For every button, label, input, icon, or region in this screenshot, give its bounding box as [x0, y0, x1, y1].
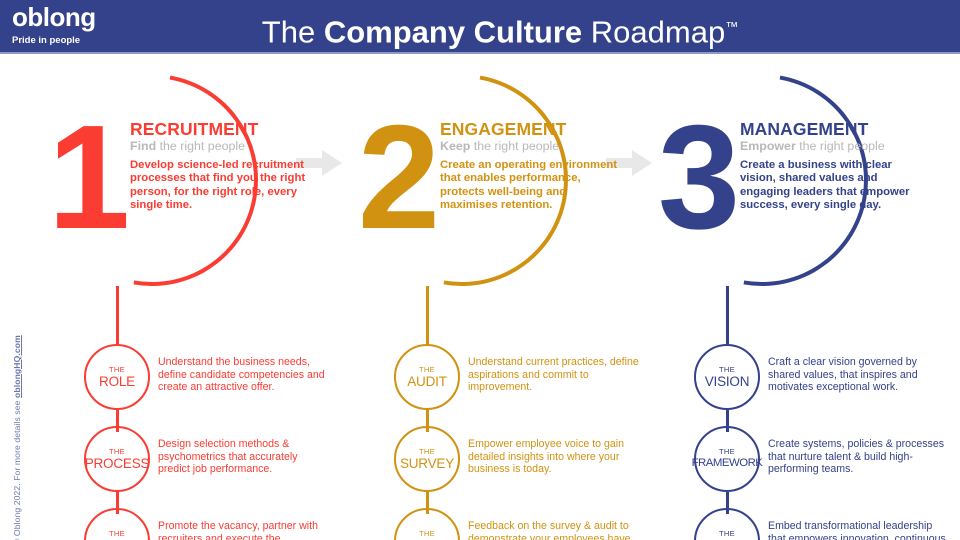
sub-desc-framework: Create systems, policies & processes tha… — [768, 438, 950, 476]
stage-subtitle-2-bold: Keep — [440, 139, 470, 153]
sub-label-the: THE — [719, 365, 735, 374]
sub-circle-vision[interactable]: THE VISION — [694, 344, 760, 410]
sub-item-response[interactable]: THE RESPONSE Feedback on the survey & au… — [332, 508, 632, 540]
page-title-bold: Company Culture — [324, 14, 582, 49]
sub-label-name: FRAMEWORK — [692, 456, 763, 471]
page-title-pre: The — [262, 14, 324, 49]
sub-circle-audit[interactable]: THE AUDIT — [394, 344, 460, 410]
stage-number-1: 1 — [34, 104, 144, 252]
connector-line-3 — [726, 286, 729, 344]
stage-column-3: 3 MANAGEMENT Empower the right people Cr… — [632, 54, 952, 540]
page-title-post: Roadmap — [582, 14, 725, 49]
sub-label-the: THE — [419, 529, 435, 538]
connector-line-2 — [426, 286, 429, 344]
sub-label-name: VISION — [705, 374, 750, 389]
infographic-page: oblong Pride in people The Company Cultu… — [0, 0, 960, 540]
oblonghq-link[interactable]: oblongHQ.com — [12, 335, 22, 398]
page-title: The Company Culture Roadmap™ — [180, 6, 820, 48]
sub-circle-response[interactable]: THE RESPONSE — [394, 508, 460, 540]
header-bar: oblong Pride in people The Company Cultu… — [0, 0, 960, 54]
stage-title-2: ENGAGEMENT — [440, 120, 620, 139]
sub-label-the: THE — [419, 447, 435, 456]
sub-item-vision[interactable]: THE VISION Craft a clear vision governed… — [632, 344, 952, 426]
stage-number-2: 2 — [344, 104, 454, 252]
sub-label-the: THE — [109, 365, 125, 374]
sub-desc-search: Promote the vacancy, partner with recrui… — [158, 520, 330, 540]
sub-label-the: THE — [109, 447, 125, 456]
sub-label-name: AUDIT — [407, 374, 447, 389]
sub-label-the: THE — [719, 529, 735, 538]
sub-label-name: SURVEY — [400, 456, 454, 471]
stage-subtitle-3-rest: the right people — [796, 139, 885, 153]
sub-label-name: ROLE — [99, 374, 135, 389]
stage-subtitle-2: Keep the right people — [440, 139, 620, 154]
stage-subtitle-1: Find the right people — [130, 139, 310, 154]
logo-wordmark: oblong — [8, 4, 176, 30]
stage-title-3: MANAGEMENT — [740, 120, 920, 139]
sub-desc-response: Feedback on the survey & audit to demons… — [468, 520, 640, 540]
connector-line-1 — [116, 286, 119, 344]
sub-item-audit[interactable]: THE AUDIT Understand current practices, … — [332, 344, 632, 426]
stage-subtitle-3-bold: Empower — [740, 139, 796, 153]
sub-circle-search[interactable]: THE SEARCH — [84, 508, 150, 540]
stage-column-1: 1 RECRUITMENT Find the right people Deve… — [22, 54, 322, 540]
sub-circle-leaders[interactable]: THE LEADERS — [694, 508, 760, 540]
sub-circle-survey[interactable]: THE SURVEY — [394, 426, 460, 492]
stage-subtitle-3: Empower the right people — [740, 139, 920, 154]
sub-item-process[interactable]: THE PROCESS Design selection methods & p… — [22, 426, 322, 508]
sub-item-role[interactable]: THE ROLE Understand the business needs, … — [22, 344, 322, 426]
sub-label-the: THE — [109, 529, 125, 538]
copyright-notice: © Oblong 2022. For more details see oblo… — [12, 255, 22, 540]
stage-heading-1: RECRUITMENT Find the right people Develo… — [130, 120, 310, 213]
sub-item-search[interactable]: THE SEARCH Promote the vacancy, partner … — [22, 508, 322, 540]
copyright-text: © Oblong 2022. For more details see — [12, 398, 22, 540]
sub-item-leaders[interactable]: THE LEADERS Embed transformational leade… — [632, 508, 952, 540]
stage-subtitle-2-rest: the right people — [470, 139, 559, 153]
stage-column-2: 2 ENGAGEMENT Keep the right people Creat… — [332, 54, 632, 540]
sub-item-survey[interactable]: THE SURVEY Empower employee voice to gai… — [332, 426, 632, 508]
sub-desc-vision: Craft a clear vision governed by shared … — [768, 356, 950, 394]
sub-circle-process[interactable]: THE PROCESS — [84, 426, 150, 492]
stage-heading-2: ENGAGEMENT Keep the right people Create … — [440, 120, 620, 213]
stage-heading-3: MANAGEMENT Empower the right people Crea… — [740, 120, 920, 213]
sub-desc-survey: Empower employee voice to gain detailed … — [468, 438, 640, 476]
sub-item-framework[interactable]: THE FRAMEWORK Create systems, policies &… — [632, 426, 952, 508]
sub-label-the: THE — [419, 365, 435, 374]
sub-desc-role: Understand the business needs, define ca… — [158, 356, 330, 394]
sub-desc-leaders: Embed transformational leadership that e… — [768, 520, 950, 540]
stage-body-3: Create a business with clear vision, sha… — [740, 159, 920, 213]
stage-body-1: Develop science-led recruitment processe… — [130, 159, 310, 213]
trademark-symbol: ™ — [725, 19, 738, 34]
stage-subtitle-1-rest: the right people — [156, 139, 245, 153]
oblong-logo[interactable]: oblong Pride in people — [8, 4, 176, 50]
stage-body-2: Create an operating environment that ena… — [440, 159, 620, 213]
logo-tagline: Pride in people — [12, 35, 80, 46]
sub-label-the: THE — [719, 447, 735, 456]
sub-circle-framework[interactable]: THE FRAMEWORK — [694, 426, 760, 492]
sub-desc-audit: Understand current practices, define asp… — [468, 356, 640, 394]
sub-desc-process: Design selection methods & psychometrics… — [158, 438, 330, 476]
sub-label-name: PROCESS — [85, 456, 150, 471]
stage-subtitle-1-bold: Find — [130, 139, 156, 153]
sub-circle-role[interactable]: THE ROLE — [84, 344, 150, 410]
stage-number-3: 3 — [644, 104, 754, 252]
stage-title-1: RECRUITMENT — [130, 120, 310, 139]
